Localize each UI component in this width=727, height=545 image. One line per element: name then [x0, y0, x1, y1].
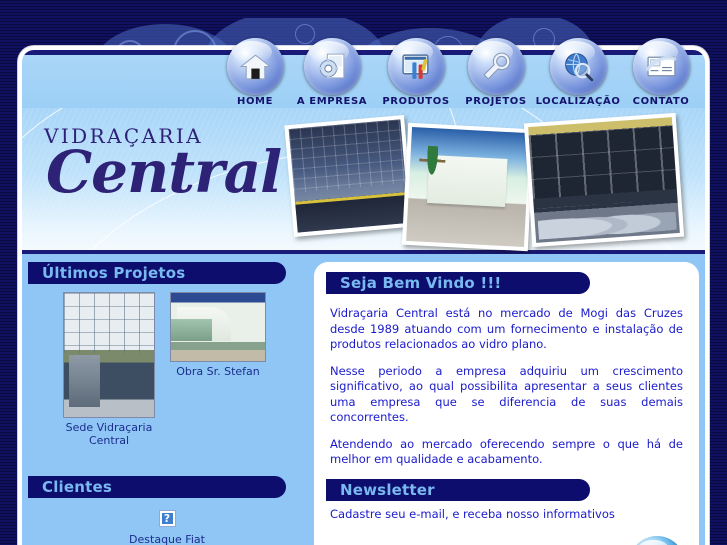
house-icon [227, 38, 284, 95]
hero-photo-2 [402, 123, 534, 251]
projects-list: Sede Vidraçaria Central Obra Sr. Stefan [28, 284, 306, 476]
hero-photo-3 [524, 113, 684, 247]
right-column: Seja Bem Vindo !!! Vidraçaria Central es… [314, 262, 699, 545]
section-header-seja-bem-vindo: Seja Bem Vindo !!! [326, 272, 590, 294]
section-header-clientes: Clientes [28, 476, 286, 498]
right-panel: Seja Bem Vindo !!! Vidraçaria Central es… [314, 262, 699, 545]
globe-magnifier-icon [550, 38, 607, 95]
newsletter-description: Cadastre seu e-mail, e receba nosso info… [314, 501, 699, 523]
project-caption-stefan: Obra Sr. Stefan [176, 365, 260, 378]
broken-image-icon [159, 510, 176, 527]
project-item-stefan[interactable]: Obra Sr. Stefan [165, 292, 271, 378]
client-item-fiat[interactable]: Destaque Fiat [28, 510, 306, 545]
nav-item-localizacao[interactable]: LOCALIZAÇÃO [530, 38, 626, 107]
nav-label-contato: CONTATO [613, 96, 709, 107]
welcome-paragraph-3: Atendendo ao mercado oferecendo sempre o… [330, 437, 683, 468]
welcome-paragraph-1: Vidraçaria Central está no mercado de Mo… [330, 306, 683, 353]
welcome-paragraph-2: Nesse periodo a empresa adquiriu um cres… [330, 364, 683, 426]
clientes-list: Destaque Fiat [28, 498, 306, 545]
section-header-ultimos-projetos: Últimos Projetos [28, 262, 286, 284]
hero-banner: VIDRAÇARIA Central [22, 108, 705, 254]
project-caption-sede: Sede Vidraçaria Central [66, 421, 153, 447]
project-item-sede[interactable]: Sede Vidraçaria Central [61, 292, 157, 447]
hero-photo-1 [284, 115, 413, 237]
section-header-newsletter: Newsletter [326, 479, 590, 501]
site-logo[interactable]: VIDRAÇARIA Central [44, 124, 281, 199]
left-column: Últimos Projetos Sede Vidraçaria Central… [28, 262, 306, 545]
blue-sphere-graphic [629, 536, 685, 545]
hero-photo-montage [285, 114, 705, 254]
page-shell: VIDRAÇARIA Central Últimos Projetos Sede… [18, 46, 709, 545]
nav-label-localizacao: LOCALIZAÇÃO [530, 96, 626, 107]
nav-item-contato[interactable]: CONTATO [613, 38, 709, 107]
gear-document-icon [304, 38, 361, 95]
envelope-icon [633, 38, 690, 95]
wrench-icon [468, 38, 525, 95]
window-tools-icon [388, 38, 445, 95]
content-area: Últimos Projetos Sede Vidraçaria Central… [22, 254, 705, 545]
welcome-text: Vidraçaria Central está no mercado de Mo… [314, 294, 699, 468]
client-caption-fiat: Destaque Fiat [28, 533, 306, 545]
nav-label-a-empresa: A EMPRESA [284, 96, 380, 107]
project-thumbnail-sede[interactable] [63, 292, 155, 418]
nav-item-a-empresa[interactable]: A EMPRESA [284, 38, 380, 107]
logo-line-central: Central [46, 146, 281, 199]
project-thumbnail-stefan[interactable] [170, 292, 266, 362]
